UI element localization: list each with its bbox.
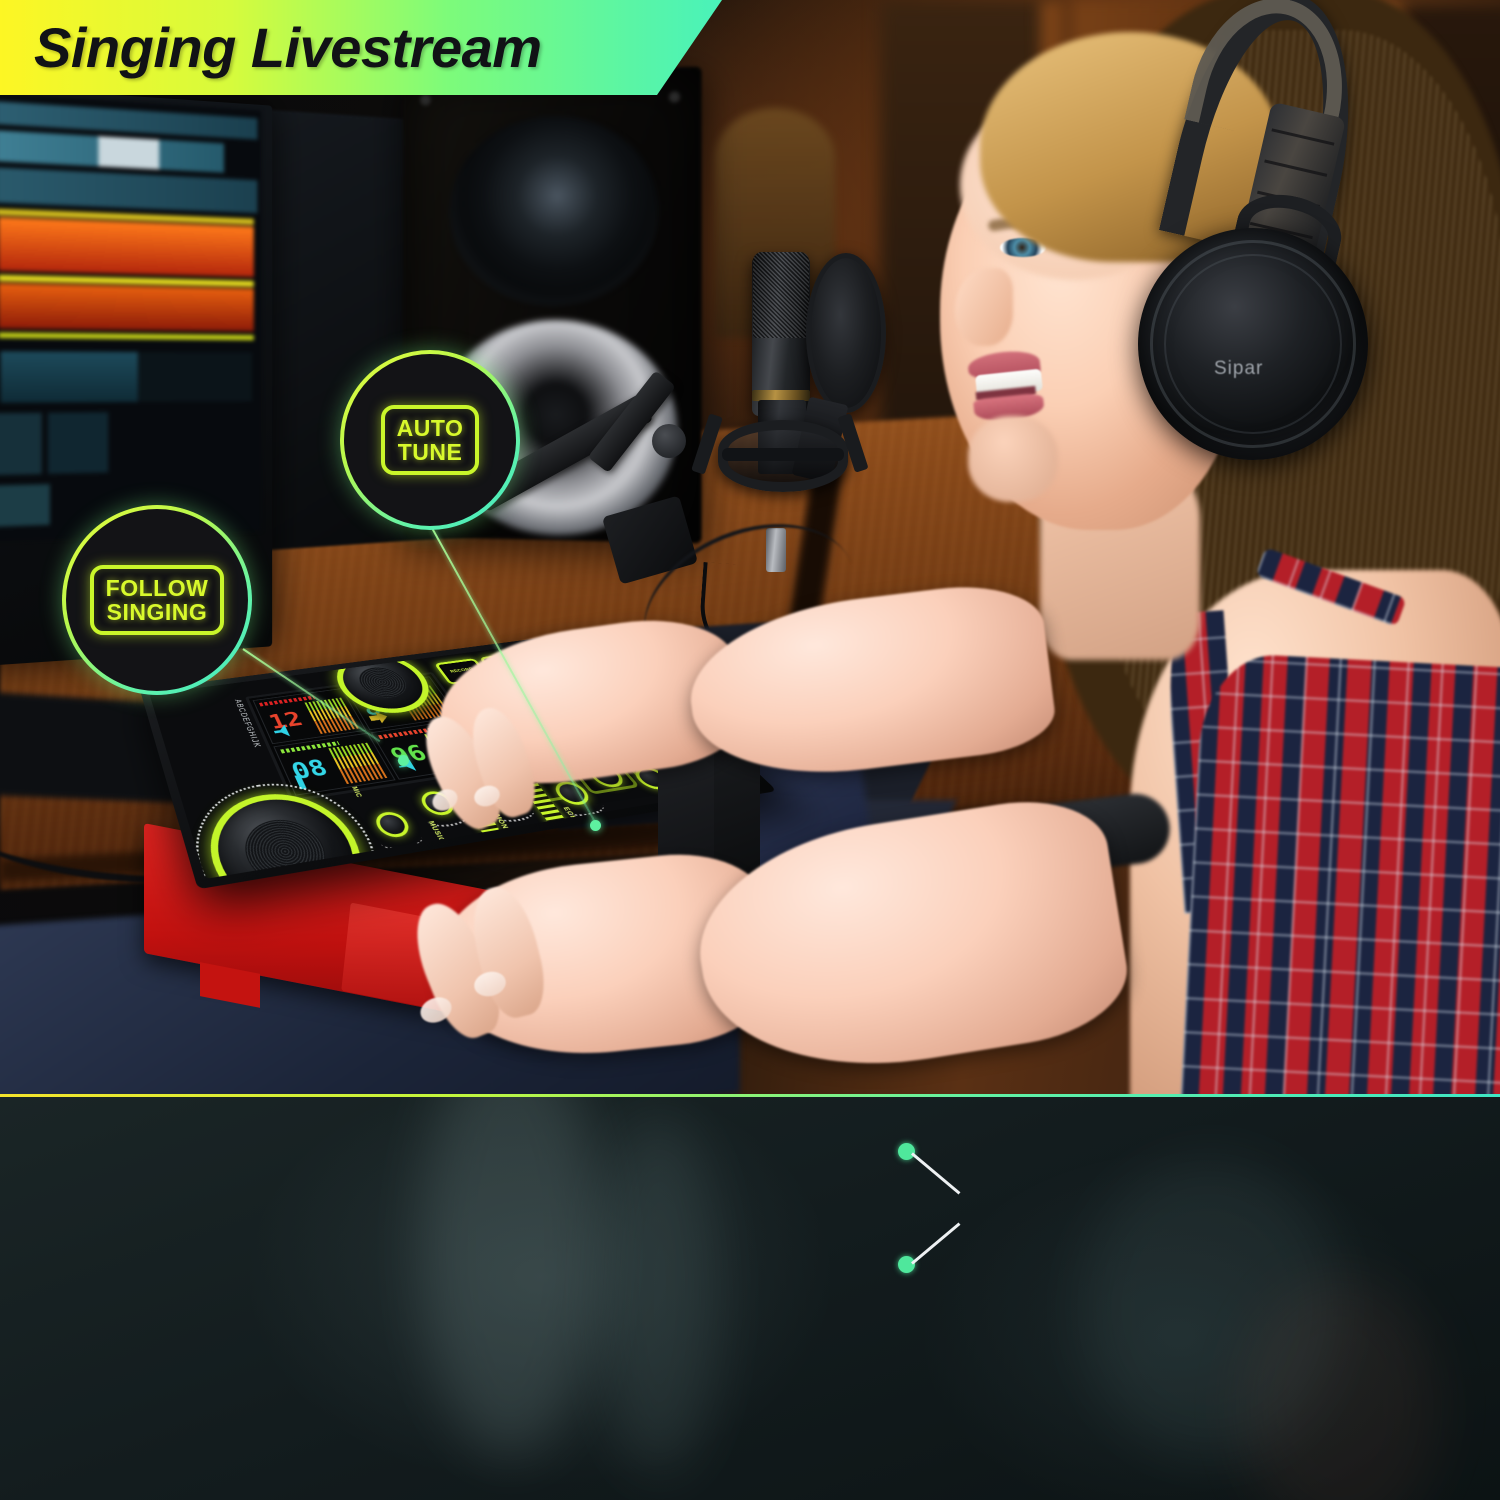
connector-line-top: [911, 1152, 960, 1194]
daw-screen: [0, 92, 261, 541]
photo-scene: Sipar 12: [0, 0, 1500, 1096]
header-banner: Singing Livestream: [0, 0, 722, 95]
chip-line-2: SINGING: [106, 600, 209, 624]
mic-arm-joint: [652, 424, 686, 458]
chin: [968, 416, 1058, 502]
chip-line-1: AUTO: [397, 416, 464, 440]
chip-line-1: FOLLOW: [106, 576, 209, 600]
microphone-grille: [753, 252, 809, 338]
product-infographic: Sipar 12: [0, 0, 1500, 1500]
feature-explanation-section: Follow Singing: the streamer can continu…: [0, 1097, 1500, 1500]
speaker-tweeter: [449, 114, 658, 306]
chip-line-2: TUNE: [397, 440, 464, 464]
shock-mount-band: [722, 448, 844, 461]
headphone-brand-logo: Sipar: [1214, 358, 1300, 380]
chip-follow-singing: FOLLOW SINGING: [90, 565, 225, 635]
headphone-earcup-inner-ring: [1164, 254, 1342, 434]
callout-follow-singing[interactable]: FOLLOW SINGING: [62, 505, 252, 695]
leader-dot-follow-singing: [398, 755, 409, 766]
connector-line-bottom: [911, 1222, 960, 1264]
plaid-top: [1180, 652, 1500, 1096]
page-title: Singing Livestream: [34, 15, 542, 80]
nose: [955, 268, 1013, 346]
callout-auto-tune[interactable]: AUTO TUNE: [340, 350, 520, 530]
chip-auto-tune: AUTO TUNE: [381, 405, 480, 475]
leader-dot-auto-tune: [590, 820, 601, 831]
pop-filter: [806, 253, 886, 413]
